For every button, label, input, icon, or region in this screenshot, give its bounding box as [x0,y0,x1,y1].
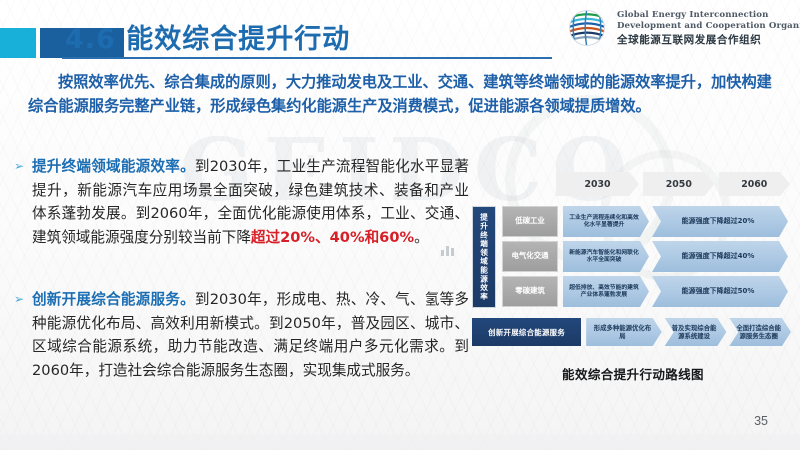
service-step-3: 全面打造综合能源服务生态圈 [729,318,791,346]
diagram-service-row: 创新开展综合能源服务 形成多种能源优化布局 普及实现综合能源系统建设 全面打造综… [472,318,794,346]
bullet-arrow-icon: ➢ [14,159,24,173]
year-chip-2060: 2060 [719,172,790,196]
bullet-item-1: ➢ 提升终端领域能源效率。到2030年，工业生产流程智能化水平显著提升，新能源汽… [14,155,469,249]
row-milestone-2030: 超低排放、高效节能的建筑产业体系蓬勃发展 [563,276,649,307]
bullet-item-2: ➢ 创新开展综合能源服务。到2030年，形成电、热、冷、气、氢等多种能源优化布局… [14,288,469,382]
row-target-later: 能源强度下降超过20% [652,206,788,237]
bullet-2-heading: 创新开展综合能源服务。 [32,291,195,308]
bullet-1-text-after: 。 [414,229,429,246]
diagram-row: 电气化交通 新能源汽车智能化和网联化水平全面突破 能源强度下降超过40% [502,241,794,272]
diagram-year-header: 2030 2050 2060 [556,172,794,196]
row-milestone-2030: 新能源汽车智能化和网联化水平全面突破 [563,241,649,272]
logo-en-line1: Global Energy Interconnection [617,10,800,21]
row-target-later: 能源强度下降超过40% [652,241,788,272]
logo-cn-name: 全球能源互联网发展合作组织 [617,33,800,47]
row-milestone-2030: 工业生产流程连续化和高效化水平显著提升 [563,206,649,237]
service-step-1: 形成多种能源优化布局 [586,318,662,346]
bullet-1-body: 提升终端领域能源效率。到2030年，工业生产流程智能化水平显著提升，新能源汽车应… [32,155,469,249]
logo-en-line2: Development and Cooperation Organization [617,21,800,32]
diagram-side-label-text: 提升终端领域能源效率 [480,213,489,301]
diagram-row: 低碳工业 工业生产流程连续化和高效化水平显著提升 能源强度下降超过20% [502,206,794,237]
globe-icon [565,6,609,50]
title-underline [62,57,552,59]
organization-logo: Global Energy Interconnection Developmen… [565,6,800,50]
diagram-rows: 低碳工业 工业生产流程连续化和高效化水平显著提升 能源强度下降超过20% 电气化… [502,206,794,311]
service-row-label: 创新开展综合能源服务 [472,318,581,346]
service-step-2: 普及实现综合能源系统建设 [665,318,727,346]
page-number: 35 [754,414,768,428]
row-category-low-carbon-industry: 低碳工业 [502,206,558,237]
slide-canvas: GEIDCO 4.6 能效综合提升行动 [0,0,800,450]
header-accent-cyan [0,28,36,58]
diagram-caption: 能效综合提升行动路线图 [472,364,794,383]
row-category-zero-carbon-building: 零碳建筑 [502,276,558,307]
bullet-2-body: 创新开展综合能源服务。到2030年，形成电、热、冷、气、氢等多种能源优化布局、高… [32,288,469,382]
diagram-side-label: 提升终端领域能源效率 [472,206,496,308]
row-target-later: 能源强度下降超过50% [652,276,788,307]
lead-paragraph: 按照效率优先、综合集成的原则，大力推动发电及工业、交通、建筑等终端领域的能源效率… [28,70,773,118]
bullet-1-heading: 提升终端领域能源效率。 [32,158,195,175]
row-category-electrified-transport: 电气化交通 [502,241,558,272]
bullet-arrow-icon: ➢ [14,292,24,306]
bottom-strip [0,434,800,450]
diagram-row: 零碳建筑 超低排放、高效节能的建筑产业体系蓬勃发展 能源强度下降超过50% [502,276,794,307]
year-chip-2050: 2050 [643,172,714,196]
bar-chart-icon [440,243,456,257]
year-chip-2030: 2030 [556,172,639,196]
roadmap-diagram: 2030 2050 2060 提升终端领域能源效率 低碳工业 工业生产流程连续化… [472,172,794,354]
bullet-1-highlight: 超过20%、40%和60% [251,229,414,246]
page-title: 4.6 能效综合提升行动 [65,17,350,56]
